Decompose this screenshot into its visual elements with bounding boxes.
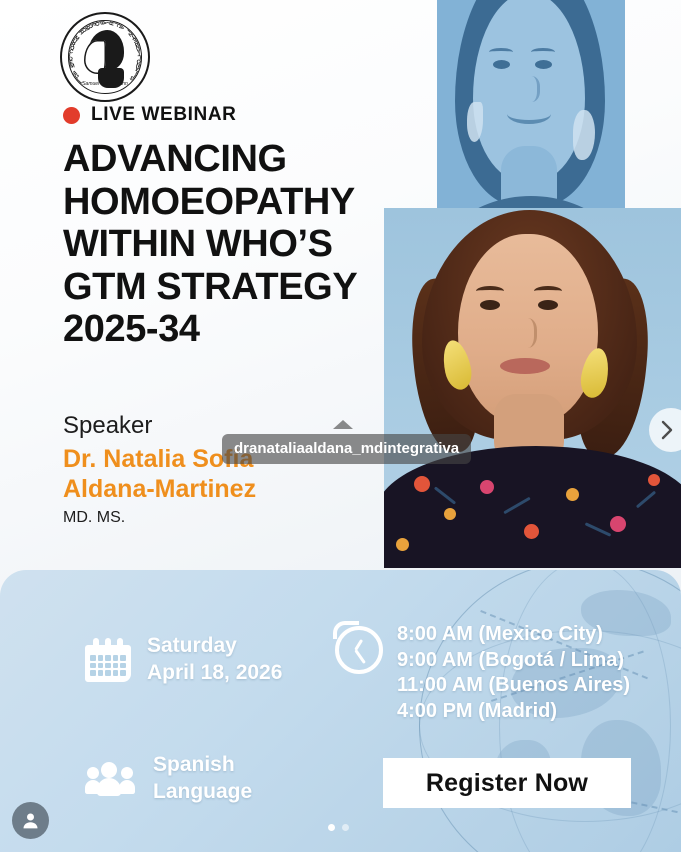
- calendar-icon: [85, 638, 131, 682]
- carousel-dot-1[interactable]: [328, 824, 335, 831]
- live-dot-icon: [63, 107, 80, 124]
- event-language-row: Spanish Language: [85, 752, 252, 806]
- headline-line-3: WITHIN WHO’S: [63, 223, 413, 266]
- headline-line-5: 2025-34: [63, 308, 413, 351]
- event-time-3: 11:00 AM (Buenos Aires): [397, 673, 630, 699]
- hahnemann-profile-icon: [84, 30, 128, 86]
- event-language-text: Spanish Language: [153, 752, 252, 806]
- event-time-row: 8:00 AM (Mexico City) 9:00 AM (Bogotá / …: [333, 622, 630, 724]
- carousel-dots[interactable]: [328, 824, 349, 831]
- headline-line-2: HOMOEOPATHY: [63, 181, 413, 224]
- event-language-line-1: Spanish: [153, 752, 252, 779]
- person-icon: [20, 810, 41, 831]
- instagram-post-viewer: LIGA MEDICORUM HOMOEOPATHICA INTERNATION…: [0, 0, 681, 852]
- live-webinar-badge: LIVE WEBINAR: [63, 104, 236, 126]
- event-time-list: 8:00 AM (Mexico City) 9:00 AM (Bogotá / …: [397, 622, 630, 724]
- carousel-dot-2[interactable]: [342, 824, 349, 831]
- event-date-row: Saturday April 18, 2026: [85, 633, 282, 687]
- logo-subtitle: Samuel Hahnemann: [60, 81, 150, 87]
- page-title: ADVANCING HOMOEOPATHY WITHIN WHO’S GTM S…: [63, 138, 413, 351]
- register-now-button[interactable]: Register Now: [383, 758, 631, 808]
- people-icon: [85, 761, 137, 797]
- clock-icon: [333, 622, 381, 670]
- event-date-text: Saturday April 18, 2026: [147, 633, 282, 687]
- speaker-name-line-2: Aldana-Martinez: [63, 474, 403, 505]
- headline-line-1: ADVANCING: [63, 138, 413, 181]
- event-time-1: 8:00 AM (Mexico City): [397, 622, 630, 648]
- event-language-line-2: Language: [153, 779, 252, 806]
- speaker-block: Speaker Dr. Natalia Sofia Aldana-Martine…: [63, 412, 403, 527]
- event-date-weekday: Saturday: [147, 633, 282, 660]
- event-time-2: 9:00 AM (Bogotá / Lima): [397, 648, 630, 674]
- chevron-right-icon: [656, 419, 678, 441]
- tagged-account-label[interactable]: dranataliaaldana_mdintegrativa: [222, 434, 471, 464]
- event-time-4: 4:00 PM (Madrid): [397, 699, 630, 725]
- live-webinar-label: LIVE WEBINAR: [91, 104, 236, 126]
- event-date-full: April 18, 2026: [147, 660, 282, 687]
- profile-avatar-button[interactable]: [12, 802, 49, 839]
- speaker-degree: MD. MS.: [63, 509, 403, 527]
- headline-line-4: GTM STRATEGY: [63, 266, 413, 309]
- tag-caret-icon: [333, 420, 353, 429]
- liga-logo: LIGA MEDICORUM HOMOEOPATHICA INTERNATION…: [60, 12, 150, 102]
- speaker-portrait-photo: [384, 208, 681, 568]
